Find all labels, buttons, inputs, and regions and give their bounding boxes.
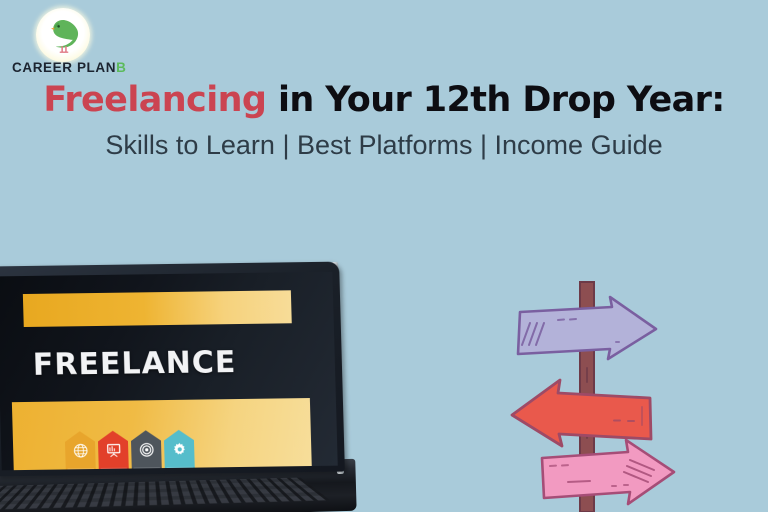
screen-content: FREELANCE TEXT HERE [0,272,338,471]
infographic-label: TEXT HERE [100,468,127,471]
globe-grid-icon [73,443,88,458]
arrow-sign-bottom[interactable] [542,440,674,504]
target-bullseye-icon [139,442,154,457]
page-title: Freelancing in Your 12th Drop Year: [0,80,768,120]
infographic-item-gear: TEXT HERE [164,430,195,471]
page-title-accent: Freelancing [43,80,266,120]
brand-name: CAREER PLANB [12,60,142,75]
hero-banner: CAREER PLANB Freelancing in Your 12th Dr… [0,0,768,512]
brand-name-suffix: B [116,60,126,75]
laptop-keyboard [0,478,330,511]
gear-settings-icon [172,442,187,457]
screen-headline-freelance: FREELANCE [32,344,293,383]
page-subtitle: Skills to Learn | Best Platforms | Incom… [0,128,768,162]
page-title-main: in Your 12th Drop Year: [266,80,724,120]
direction-signpost-illustration [484,276,694,512]
laptop-screen-bezel: FREELANCE TEXT HERE [0,262,345,477]
brand-logo[interactable]: CAREER PLANB [12,6,142,82]
brand-name-text: CAREER PLAN [12,60,116,75]
screen-bottom-panel: TEXT HERE TEXT HERE [12,398,312,470]
laptop-illustration: FREELANCE TEXT HERE [0,258,358,512]
infographic-label: TEXT HERE [166,467,193,471]
screen-infographic-row: TEXT HERE TEXT HERE [65,430,195,471]
infographic-item-presentation: TEXT HERE [98,431,129,471]
screen-top-banner [23,290,292,327]
infographic-label: TEXT HERE [67,468,94,470]
infographic-item-globe: TEXT HERE [65,431,96,470]
infographic-label: TEXT HERE [133,467,160,470]
green-bird-logo-icon [36,8,90,62]
infographic-item-target: TEXT HERE [131,430,162,470]
presentation-board-icon [106,443,121,458]
laptop-screen: FREELANCE TEXT HERE [0,272,338,471]
